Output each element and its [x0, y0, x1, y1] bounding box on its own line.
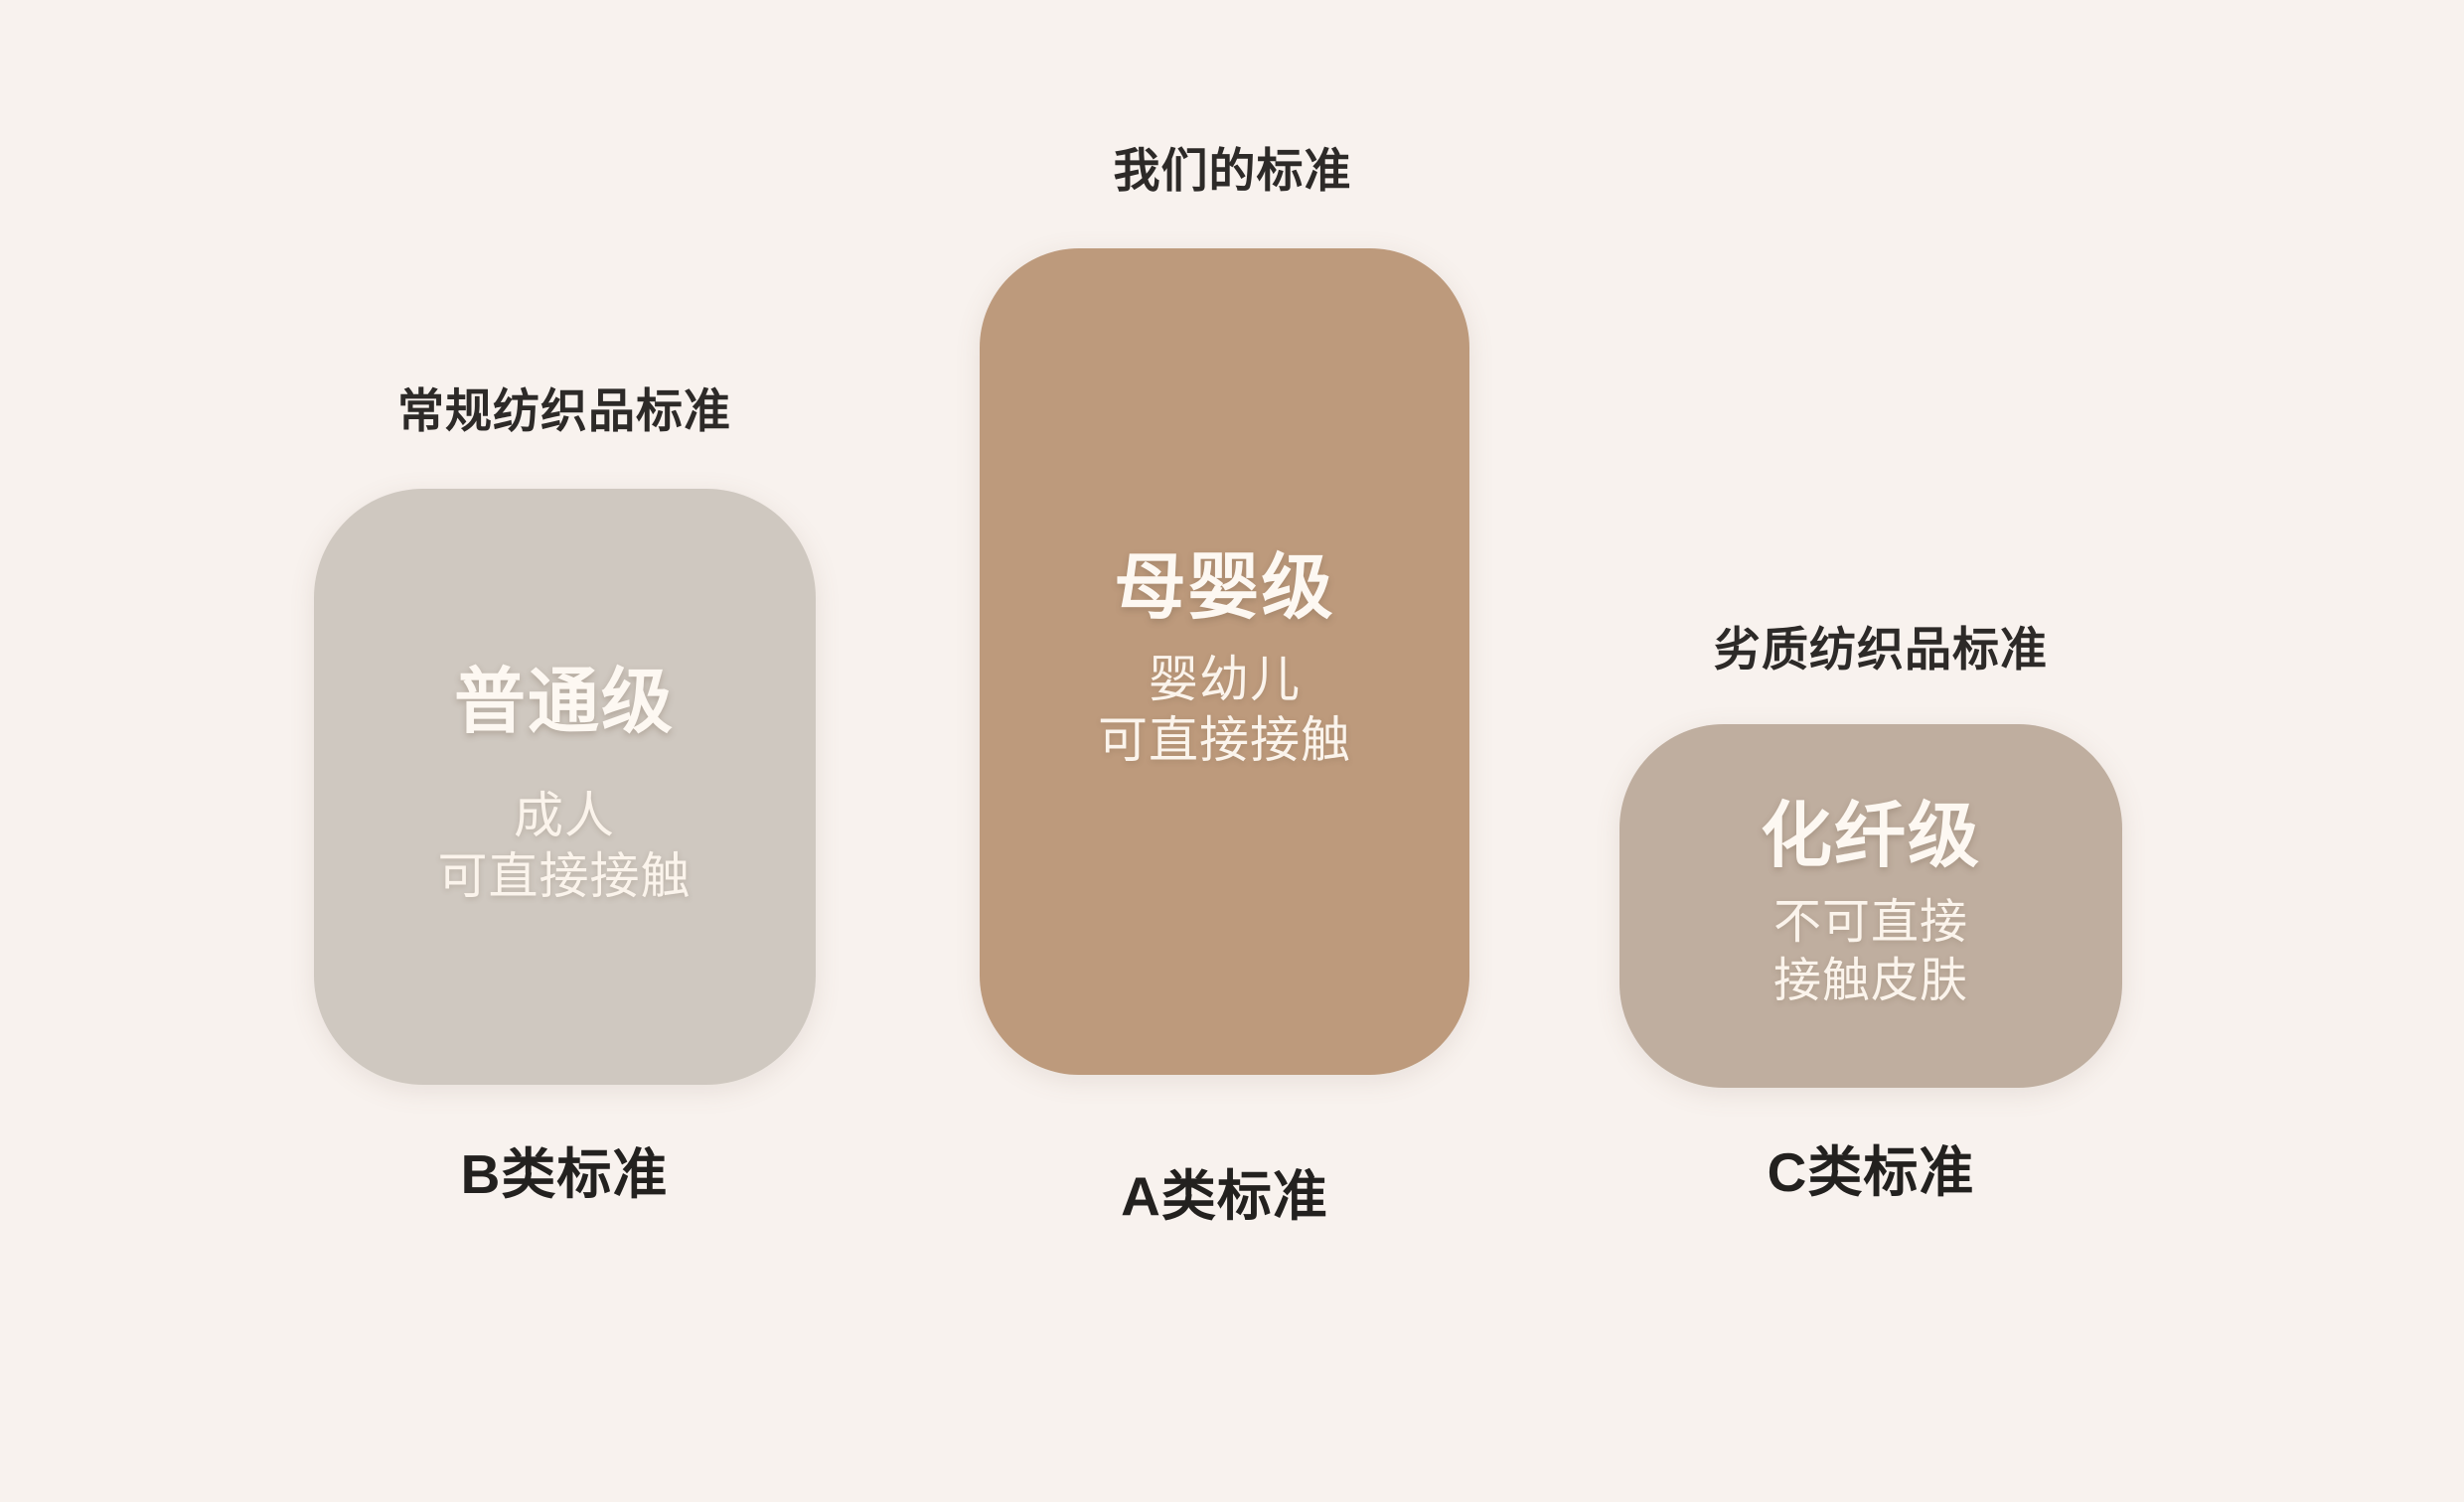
top-caption-b: 常规纺织品标准	[397, 387, 731, 434]
standard-column-b: 常规纺织品标准 普通级 成人 可直接接触 B类标准	[311, 387, 818, 1202]
class-label-c: C类标准	[1768, 1145, 1975, 1200]
grade-card-title-synthetic: 化纤级	[1761, 801, 1981, 872]
grade-card-subtitle-mother-baby: 婴幼儿 可直接接触	[1098, 650, 1351, 771]
top-caption-c: 劣质纺织品标准	[1714, 626, 2048, 673]
top-caption-a: 我们的标准	[1114, 147, 1352, 194]
grade-card-ordinary[interactable]: 普通级 成人 可直接接触	[314, 489, 816, 1085]
grade-card-synthetic[interactable]: 化纤级 不可直接 接触皮肤	[1619, 724, 2122, 1088]
class-label-a: A类标准	[1121, 1169, 1328, 1224]
grade-card-title-ordinary: 普通级	[454, 667, 675, 738]
grade-card-subtitle-synthetic: 不可直接 接触皮肤	[1773, 894, 1968, 1010]
standard-column-a: 我们的标准 母婴级 婴幼儿 可直接接触 A类标准	[979, 147, 1470, 1224]
grade-card-subtitle-ordinary: 成人 可直接接触	[438, 786, 692, 907]
infographic-stage: 常规纺织品标准 普通级 成人 可直接接触 B类标准 我们的标准 母婴级 婴幼儿 …	[0, 0, 2464, 1502]
grade-card-title-mother-baby: 母婴级	[1114, 552, 1334, 624]
class-label-b: B类标准	[461, 1147, 669, 1202]
standard-column-c: 劣质纺织品标准 化纤级 不可直接 接触皮肤 C类标准	[1619, 626, 2122, 1200]
grade-card-mother-baby[interactable]: 母婴级 婴幼儿 可直接接触	[980, 248, 1469, 1075]
